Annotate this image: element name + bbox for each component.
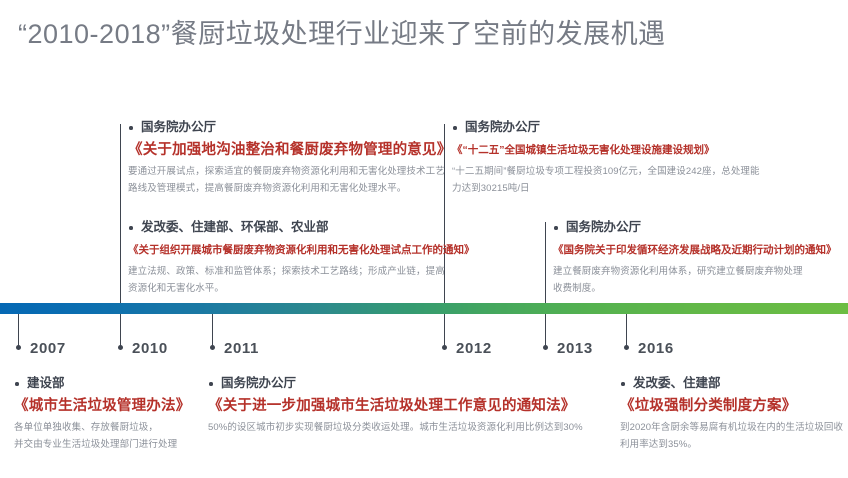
policy-body-2016-line2: 利用率达到35%。 bbox=[620, 436, 843, 453]
policy-block-2012[interactable]: 国务院办公厅 《“十二五”全国城镇生活垃圾无害化处理设施建设规划》 “十二五期间… bbox=[452, 119, 760, 197]
policy-doc-2007: 《城市生活垃圾管理办法》 bbox=[14, 397, 190, 415]
year-label-2016[interactable]: 2016 bbox=[638, 340, 674, 357]
policy-org-2012: 国务院办公厅 bbox=[452, 119, 760, 136]
policy-org-2013: 国务院办公厅 bbox=[553, 219, 837, 236]
year-dot-2011 bbox=[210, 345, 215, 350]
year-label-2007[interactable]: 2007 bbox=[30, 340, 66, 357]
policy-body-2011-line1: 50%的设区城市初步实现餐厨垃圾分类收运处理。城市生活垃圾资源化利用比例达到30… bbox=[208, 419, 583, 437]
policy-body-2010-a-line1: 要通过开展试点，探索适宜的餐厨废弃物资源化利用和无害化处理技术工艺 bbox=[128, 163, 451, 180]
policy-org-2007: 建设部 bbox=[14, 375, 190, 392]
policy-block-2010-a[interactable]: 国务院办公厅 《关于加强地沟油整治和餐厨废弃物管理的意见》 要通过开展试点，探索… bbox=[128, 119, 451, 197]
connector-line-2011 bbox=[212, 314, 213, 348]
policy-org-2010-a: 国务院办公厅 bbox=[128, 119, 451, 136]
policy-body-2010-b-line1: 建立法规、政策、标准和监管体系；探索技术工艺路线；形成产业链，提高 bbox=[128, 263, 475, 280]
year-label-2011[interactable]: 2011 bbox=[224, 340, 259, 357]
connector-line-2016 bbox=[626, 314, 627, 348]
policy-block-2010-b[interactable]: 发改委、住建部、环保部、农业部 《关于组织开展城市餐厨废弃物资源化利用和无害化处… bbox=[128, 219, 475, 297]
policy-doc-2012: 《“十二五”全国城镇生活垃圾无害化处理设施建设规划》 bbox=[452, 141, 760, 159]
policy-block-2007[interactable]: 建设部 《城市生活垃圾管理办法》 各单位单独收集、存放餐厨垃圾， 并交由专业生活… bbox=[14, 375, 190, 453]
year-label-2012[interactable]: 2012 bbox=[456, 340, 492, 357]
policy-body-2010-a-line2: 路线及管理模式，提高餐厨废弃物资源化利用和无害化处理水平。 bbox=[128, 180, 451, 197]
policy-org-2016: 发改委、住建部 bbox=[620, 375, 843, 392]
policy-doc-2010-b: 《关于组织开展城市餐厨废弃物资源化利用和无害化处理试点工作的通知》 bbox=[128, 241, 475, 259]
year-label-2010[interactable]: 2010 bbox=[132, 340, 168, 357]
policy-org-2010-b: 发改委、住建部、环保部、农业部 bbox=[128, 219, 475, 236]
year-dot-2013 bbox=[543, 345, 548, 350]
connector-line-2007 bbox=[18, 314, 19, 348]
policy-body-2016-line1: 到2020年含厨余等易腐有机垃圾在内的生活垃圾回收 bbox=[620, 419, 843, 436]
policy-doc-2013: 《国务院关于印发循环经济发展战略及近期行动计划的通知》 bbox=[553, 241, 837, 259]
policy-body-2012-line1: “十二五期间”餐厨垃圾专项工程投资109亿元，全国建设242座，总处理能 bbox=[452, 163, 760, 180]
policy-block-2011[interactable]: 国务院办公厅 《关于进一步加强城市生活垃圾处理工作意见的通知法》 50%的设区城… bbox=[208, 375, 583, 437]
policy-doc-2010-a: 《关于加强地沟油整治和餐厨废弃物管理的意见》 bbox=[128, 141, 451, 159]
policy-body-2012-line2: 力达到30215吨/日 bbox=[452, 180, 760, 197]
timeline-bar bbox=[0, 303, 848, 314]
policy-doc-2011: 《关于进一步加强城市生活垃圾处理工作意见的通知法》 bbox=[208, 397, 583, 415]
year-dot-2010 bbox=[118, 345, 123, 350]
year-dot-2007 bbox=[16, 345, 21, 350]
policy-body-2013-line1: 建立餐厨废弃物资源化利用体系，研究建立餐厨废弃物处理 bbox=[553, 263, 837, 280]
slide-canvas: “2010-2018”餐厨垃圾处理行业迎来了空前的发展机遇 2007 2010 … bbox=[0, 0, 848, 478]
policy-block-2016[interactable]: 发改委、住建部 《垃圾强制分类制度方案》 到2020年含厨余等易腐有机垃圾在内的… bbox=[620, 375, 843, 453]
connector-line-2010 bbox=[120, 124, 121, 348]
policy-doc-2016: 《垃圾强制分类制度方案》 bbox=[620, 397, 843, 415]
policy-body-2010-b-line2: 资源化和无害化水平。 bbox=[128, 280, 475, 297]
connector-line-2013 bbox=[545, 222, 546, 348]
policy-body-2007-line2: 并交由专业生活垃圾处理部门进行处理 bbox=[14, 436, 190, 453]
year-label-2013[interactable]: 2013 bbox=[557, 340, 593, 357]
policy-body-2007-line1: 各单位单独收集、存放餐厨垃圾， bbox=[14, 419, 190, 436]
page-title: “2010-2018”餐厨垃圾处理行业迎来了空前的发展机遇 bbox=[18, 17, 666, 51]
policy-org-2011: 国务院办公厅 bbox=[208, 375, 583, 392]
policy-body-2013-line2: 收费制度。 bbox=[553, 280, 837, 297]
year-dot-2012 bbox=[442, 345, 447, 350]
year-dot-2016 bbox=[624, 345, 629, 350]
policy-block-2013[interactable]: 国务院办公厅 《国务院关于印发循环经济发展战略及近期行动计划的通知》 建立餐厨废… bbox=[553, 219, 837, 297]
